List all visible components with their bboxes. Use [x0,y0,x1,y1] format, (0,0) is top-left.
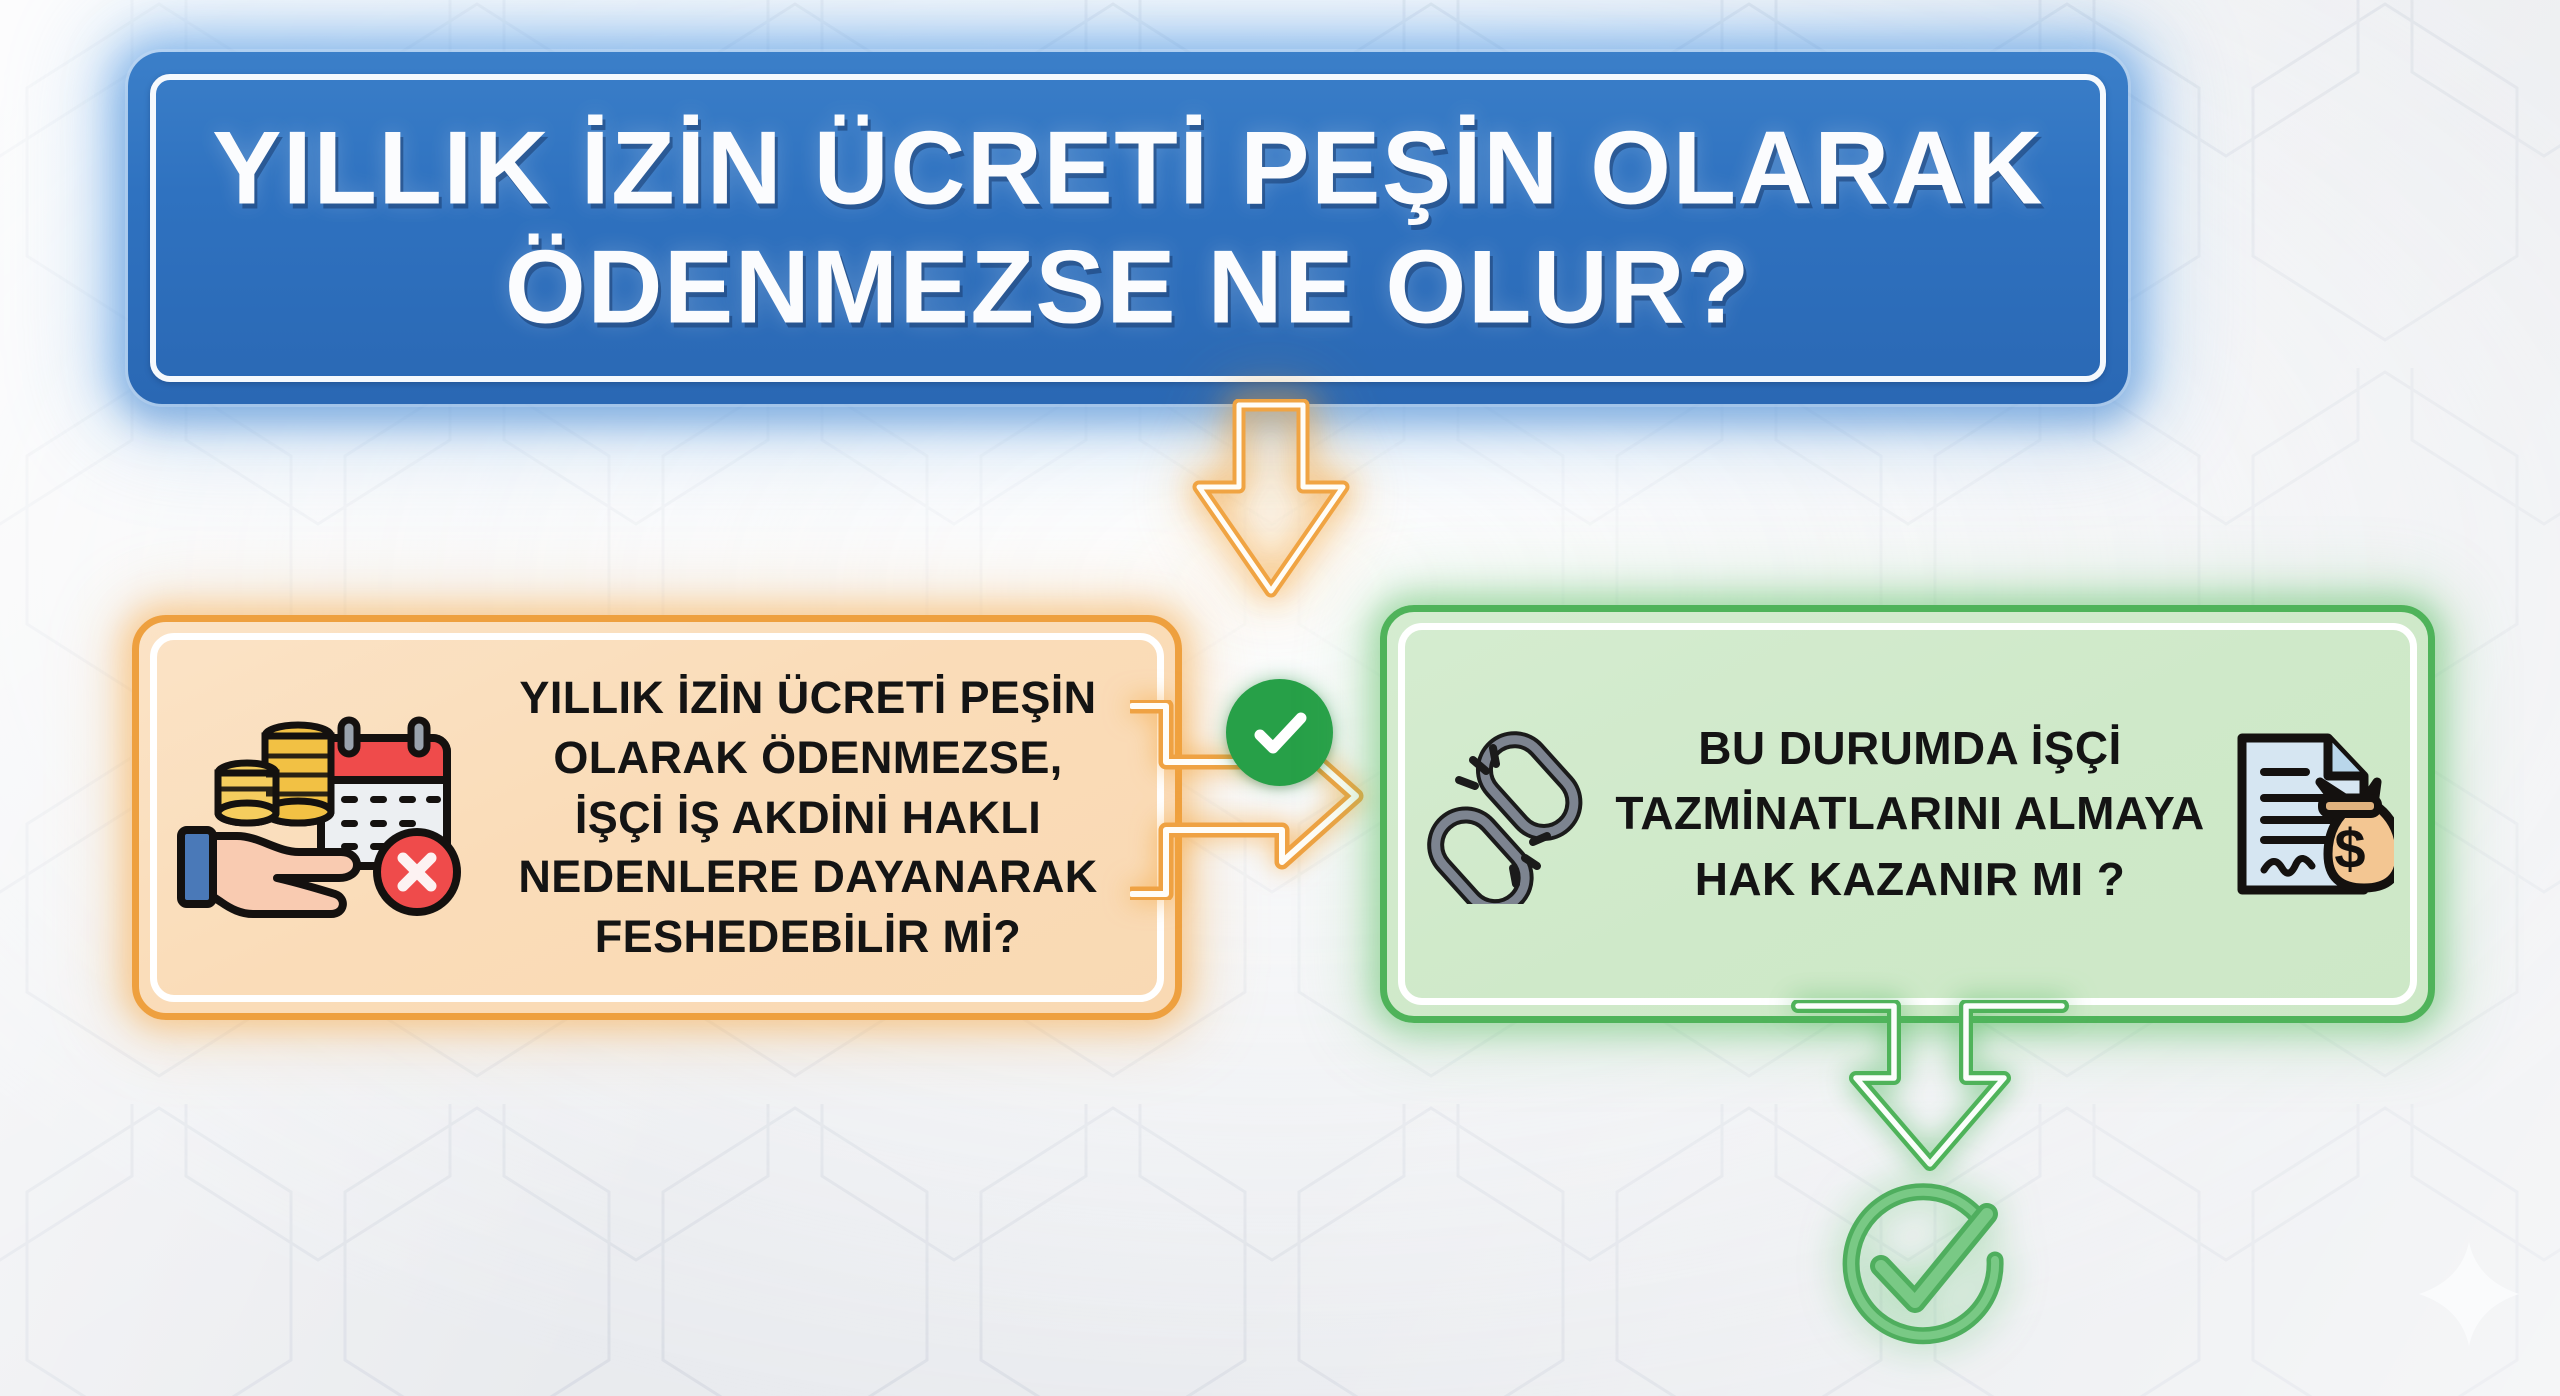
question-card-line-1: YILLIK İZİN ÜCRETİ PEŞİN [475,668,1141,728]
header-banner: YILLIK İZİN ÜCRETİ PEŞİN OLARAK ÖDENMEZS… [128,52,2128,404]
question-card-text: YILLIK İZİN ÜCRETİ PEŞİN OLARAK ÖDENMEZS… [475,668,1141,967]
answer-card-line-1: BU DURUMDA İŞÇİ [1608,716,2212,781]
question-card-line-5: FESHEDEBİLİR Mİ? [475,907,1141,967]
answer-card-line-3: HAK KAZANIR MI ? [1608,847,2212,912]
check-circle-filled-icon [1226,679,1333,786]
question-card-line-3: İŞÇİ İŞ AKDİNİ HAKLI [475,788,1141,848]
document-money-bag-icon: $ [2224,724,2394,904]
check-circle-outline-icon [1825,1168,2020,1363]
infographic-canvas: YILLIK İZİN ÜCRETİ PEŞİN OLARAK ÖDENMEZS… [0,0,2560,1396]
down-arrow-green-icon [1790,1000,2070,1175]
page-title: YILLIK İZİN ÜCRETİ PEŞİN OLARAK ÖDENMEZS… [128,109,2128,346]
svg-text:$: $ [2334,817,2365,880]
question-card-line-2: OLARAK ÖDENMEZSE, [475,728,1141,788]
answer-card: BU DURUMDA İŞÇİ TAZMİNATLARINI ALMAYA HA… [1380,605,2435,1023]
answer-card-line-2: TAZMİNATLARINI ALMAYA [1608,781,2212,846]
sparkle-four-point-icon [2415,1238,2523,1350]
down-arrow-orange-icon [1187,399,1355,599]
answer-card-text: BU DURUMDA İŞÇİ TAZMİNATLARINI ALMAYA HA… [1608,716,2212,912]
hand-coins-calendar-x-icon [173,700,463,935]
page-title-line-2: ÖDENMEZSE NE OLUR? [188,228,2068,347]
broken-chain-icon [1421,724,1596,904]
question-card: YILLIK İZİN ÜCRETİ PEŞİN OLARAK ÖDENMEZS… [132,615,1182,1020]
page-title-line-1: YILLIK İZİN ÜCRETİ PEŞİN OLARAK [188,109,2068,228]
question-card-line-4: NEDENLERE DAYANARAK [475,847,1141,907]
